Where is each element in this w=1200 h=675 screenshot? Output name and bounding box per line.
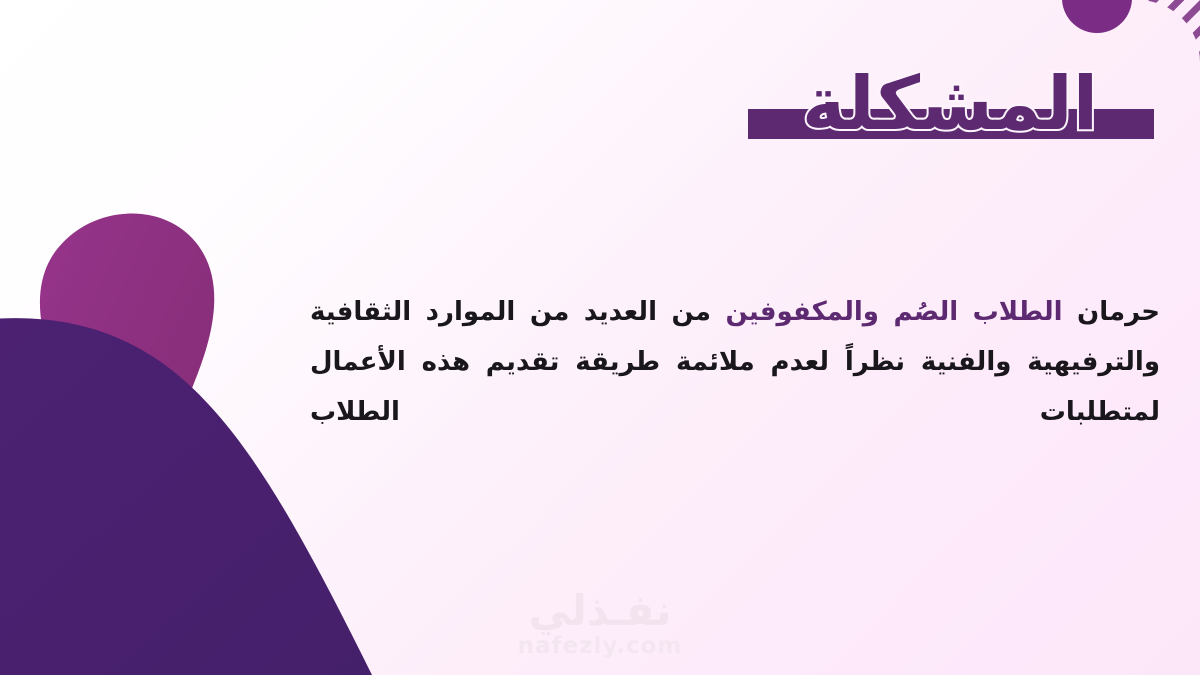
- watermark-arabic-text: نفـذلي: [0, 589, 1200, 633]
- circle-decoration: [1062, 0, 1132, 33]
- teardrop-decoration: [40, 214, 214, 597]
- title-text: المشكلة: [740, 58, 1160, 151]
- body-paragraph: حرمان الطلاب الصُم والمكفوفين من العديد …: [310, 288, 1160, 438]
- body-text-prefix: حرمان: [1063, 297, 1160, 327]
- slide-canvas: المشكلة حرمان الطلاب الصُم والمكفوفين من…: [0, 0, 1200, 675]
- body-text-highlight: الطلاب الصُم والمكفوفين: [726, 297, 1063, 327]
- watermark: نفـذلي nafezly.com: [0, 589, 1200, 661]
- body-paragraph-container: حرمان الطلاب الصُم والمكفوفين من العديد …: [310, 288, 1160, 438]
- watermark-url-text: nafezly.com: [0, 633, 1200, 661]
- page-title: المشكلة: [740, 58, 1160, 151]
